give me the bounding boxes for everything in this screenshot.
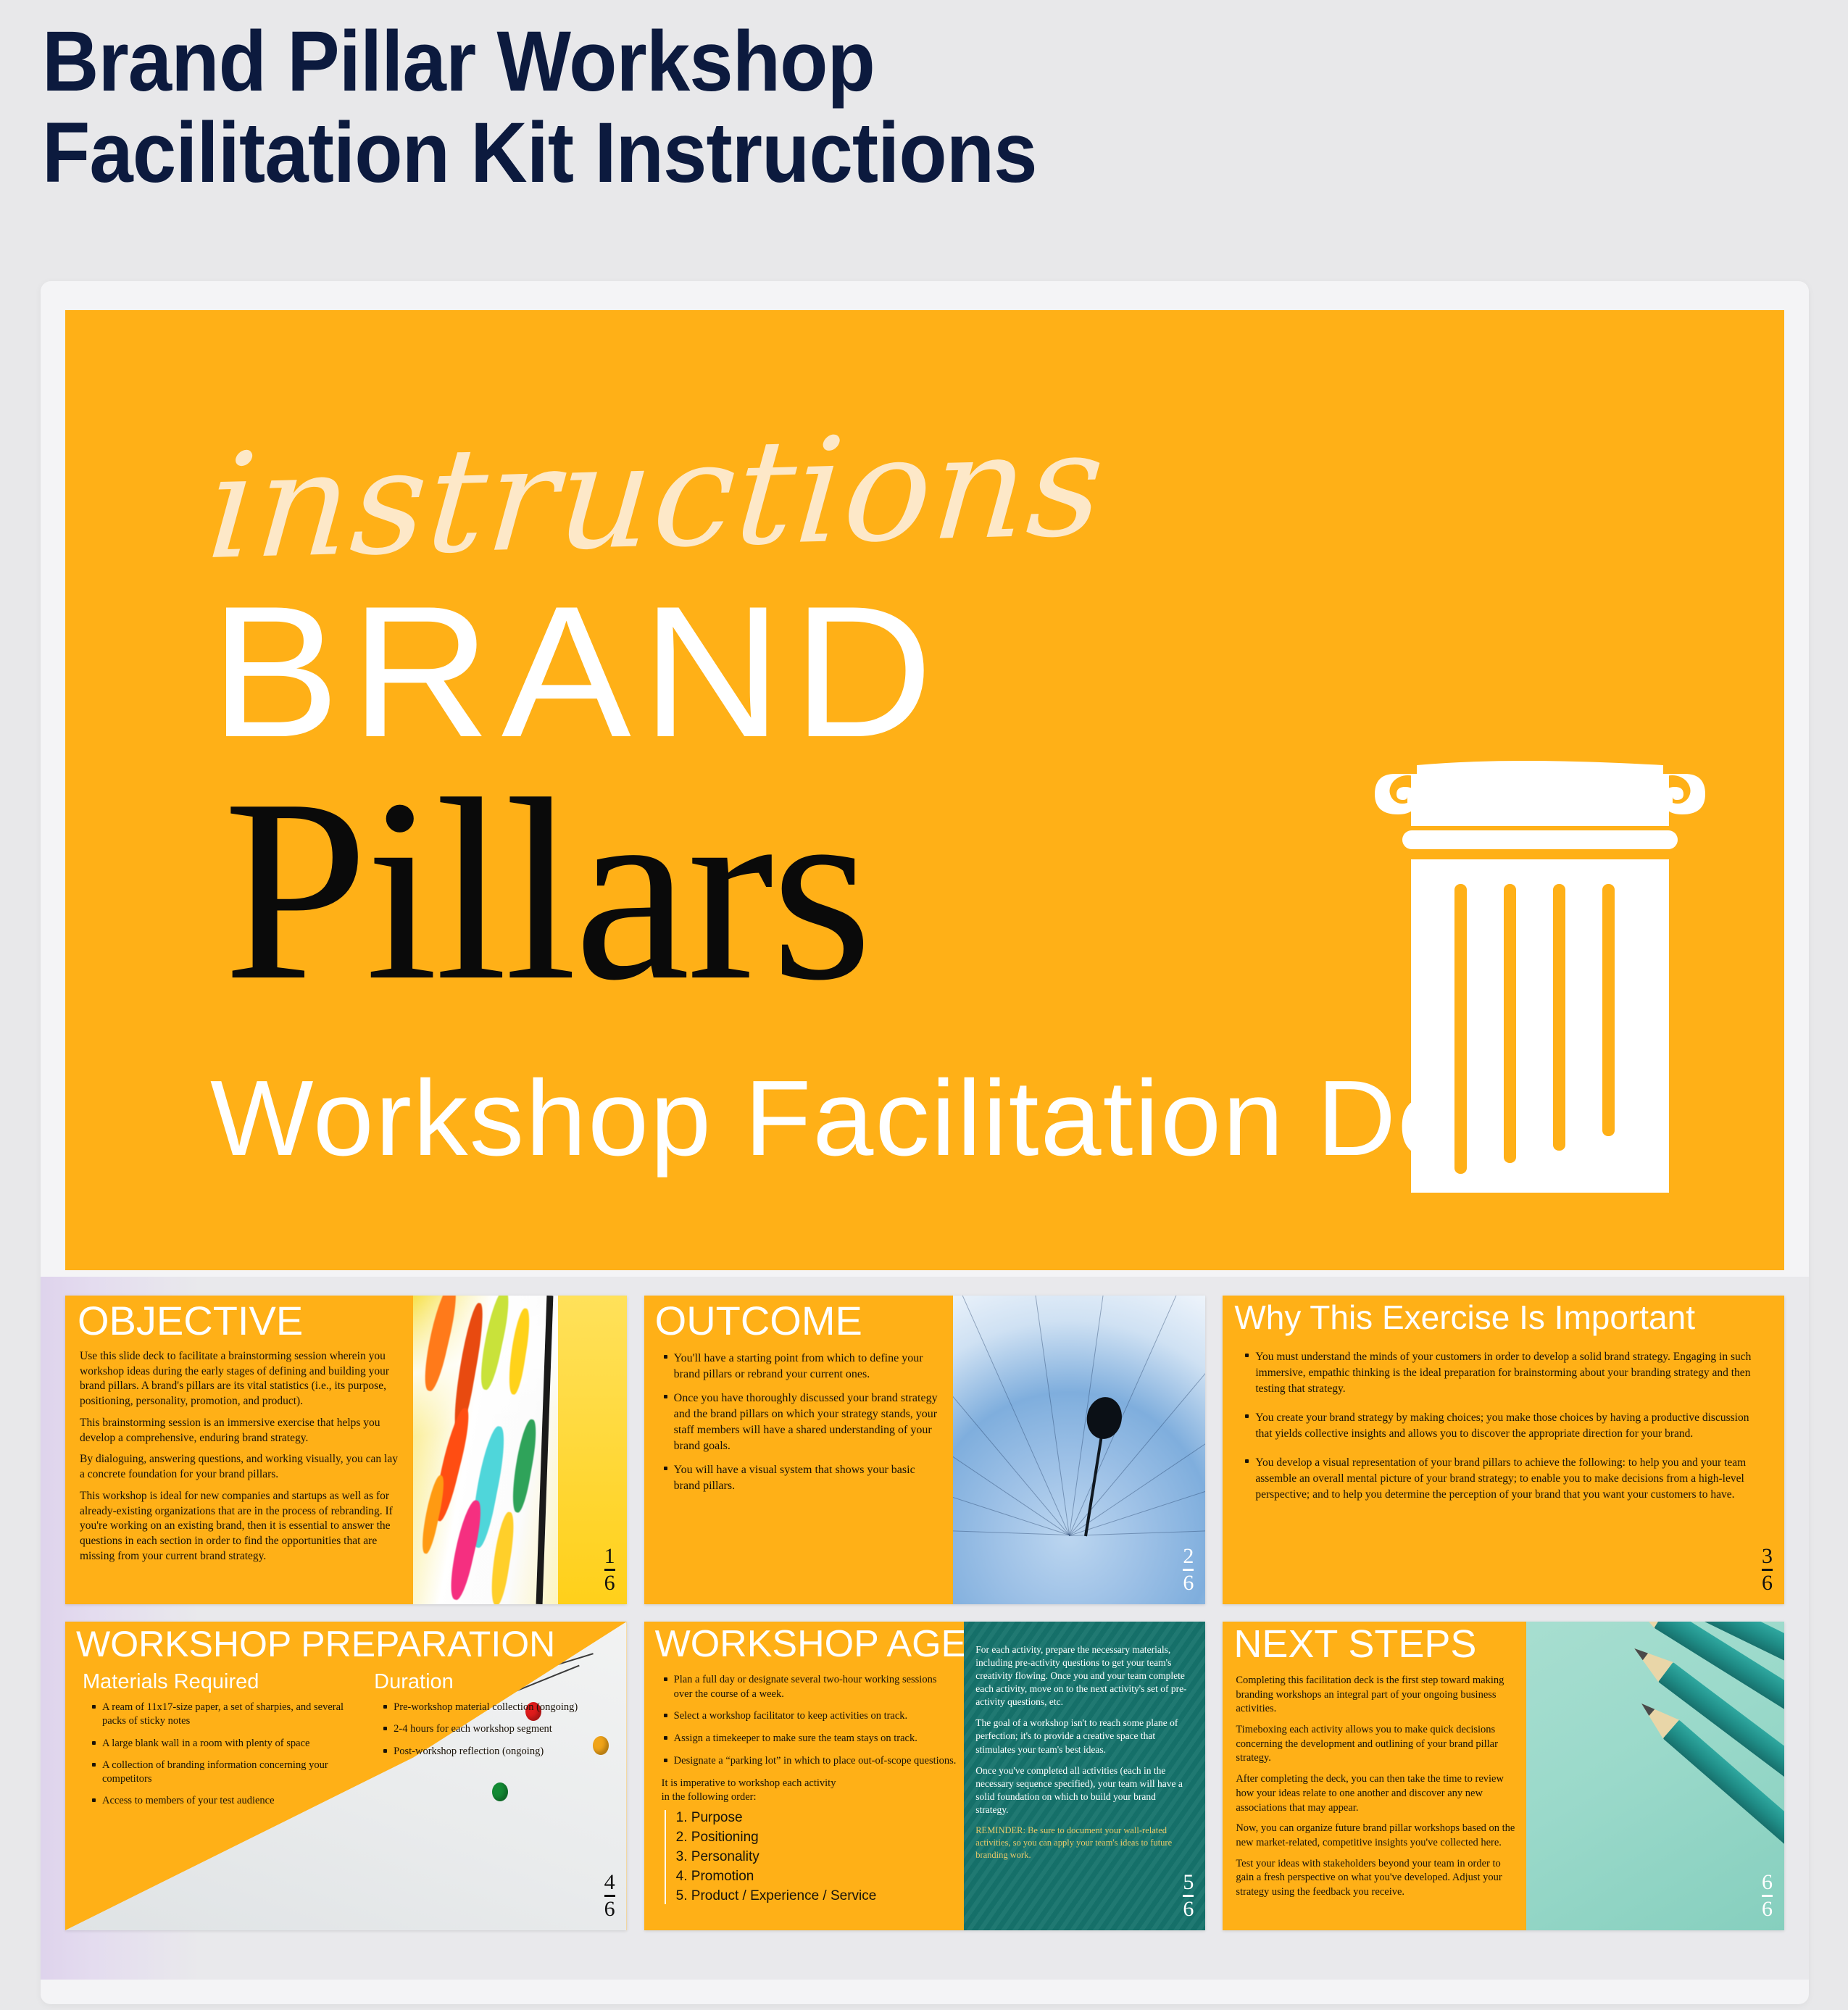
page-title: Brand Pillar Workshop Facilitation Kit I… — [42, 16, 1309, 199]
slide-page-number: 5 6 — [1183, 1871, 1194, 1920]
hero-script-label: instructions — [202, 400, 1111, 592]
side-paragraph: The goal of a workshop isn't to reach so… — [975, 1717, 1191, 1756]
slide-title: OUTCOME — [655, 1301, 944, 1340]
hero-pillars-word: Pillars — [223, 759, 870, 1020]
reminder-note: REMINDER: Be sure to document your wall-… — [975, 1825, 1191, 1861]
hero-brand-word: BRAND — [210, 578, 944, 765]
side-paragraph: Once you've completed all activities (ea… — [975, 1764, 1191, 1817]
slide-bullet: Post-workshop reflection (ongoing) — [381, 1745, 596, 1759]
slide-bullet: You develop a visual representation of y… — [1243, 1455, 1768, 1503]
slide-thumbnail-next-steps[interactable]: NEXT STEPS Completing this facilitation … — [1223, 1622, 1784, 1930]
column-heading: Duration — [370, 1670, 596, 1694]
slide-thumbnail-workshop-agenda[interactable]: WORKSHOP AGENDA Plan a full day or desig… — [644, 1622, 1206, 1930]
slide-page-number: 1 6 — [604, 1545, 615, 1594]
deck-card: instructions BRAND Pillars Workshop Faci… — [41, 281, 1809, 2004]
slide-bullet: You must understand the minds of your cu… — [1243, 1349, 1768, 1397]
slide-paragraph: Timeboxing each activity allows you to m… — [1236, 1723, 1517, 1766]
slide-bullet: A large blank wall in a room with plenty… — [90, 1737, 358, 1751]
slide-thumbnail-objective[interactable]: OBJECTIVE Use this slide deck to facilit… — [65, 1296, 627, 1604]
slide-paragraph: After completing the deck, you can then … — [1236, 1772, 1517, 1815]
agenda-ordered-list: 1. Purpose 2. Positioning 3. Personality… — [665, 1810, 957, 1904]
list-item: 1. Purpose — [676, 1810, 957, 1826]
pin-and-web-lines-photo — [953, 1296, 1206, 1604]
slide-bullet: 2-4 hours for each workshop segment — [381, 1722, 596, 1736]
slide-bullet: Assign a timekeeper to make sure the tea… — [662, 1732, 957, 1746]
slide-bullet: Access to members of your test audience — [90, 1794, 358, 1808]
slide-bullet: You create your brand strategy by making… — [1243, 1410, 1768, 1442]
slide-title: OBJECTIVE — [78, 1301, 403, 1340]
column-heading: Materials Required — [78, 1670, 358, 1694]
slide-bullet: Plan a full day or designate several two… — [662, 1673, 957, 1701]
slide-paragraph: Now, you can organize future brand pilla… — [1236, 1822, 1517, 1850]
slide-bullet: Pre-workshop material collection (ongoin… — [381, 1701, 596, 1714]
side-paragraph: For each activity, prepare the necessary… — [975, 1643, 1191, 1709]
agenda-side-panel: For each activity, prepare the necessary… — [964, 1622, 1205, 1930]
instructions-page: Brand Pillar Workshop Facilitation Kit I… — [0, 0, 1848, 2010]
slide-bullet: Select a workshop facilitator to keep ac… — [662, 1709, 957, 1724]
slide-bullet: A collection of branding information con… — [90, 1759, 358, 1787]
slide-bullet: Once you have thoroughly discussed your … — [662, 1390, 944, 1454]
list-item: 3. Personality — [676, 1849, 957, 1865]
slide-paragraph: Test your ideas with stakeholders beyond… — [1236, 1857, 1517, 1900]
hero-slide[interactable]: instructions BRAND Pillars Workshop Faci… — [65, 310, 1784, 1270]
slide-paragraph: By dialoguing, answering questions, and … — [80, 1452, 403, 1483]
slide-paragraph: Use this slide deck to facilitate a brai… — [80, 1349, 403, 1409]
slide-page-number: 3 6 — [1762, 1545, 1773, 1594]
slide-title: Why This Exercise Is Important — [1234, 1301, 1768, 1333]
slide-thumbnail-outcome[interactable]: OUTCOME You'll have a starting point fro… — [644, 1296, 1206, 1604]
slide-paragraph: Completing this facilitation deck is the… — [1236, 1674, 1517, 1717]
slide-page-number: 4 6 — [604, 1871, 615, 1920]
slide-title: NEXT STEPS — [1233, 1626, 1517, 1664]
slide-paragraph: This workshop is ideal for new companies… — [80, 1489, 403, 1564]
slide-bullet: Designate a “parking lot” in which to pl… — [662, 1754, 957, 1769]
slide-paragraph: This brainstorming session is an immersi… — [80, 1416, 403, 1446]
slide-page-number: 2 6 — [1183, 1545, 1194, 1594]
slide-thumbnail-why-important[interactable]: Why This Exercise Is Important You must … — [1223, 1296, 1784, 1604]
order-intro: It is imperative to workshop each activi… — [662, 1777, 957, 1805]
ionic-column-icon — [1366, 752, 1714, 1201]
slide-title: WORKSHOP PREPARATION — [76, 1627, 617, 1661]
list-item: 4. Promotion — [676, 1869, 957, 1885]
abstract-paint-strokes-photo — [413, 1296, 626, 1604]
slide-page-number: 6 6 — [1762, 1871, 1773, 1920]
teal-pencils-photo — [1526, 1622, 1784, 1930]
slide-thumbnail-workshop-preparation[interactable]: WORKSHOP PREPARATION Materials Required … — [65, 1622, 627, 1930]
list-item: 2. Positioning — [676, 1830, 957, 1846]
list-item: 5. Product / Experience / Service — [676, 1888, 957, 1904]
slide-bullet: You will have a visual system that shows… — [662, 1462, 944, 1494]
slide-thumbnail-grid: OBJECTIVE Use this slide deck to facilit… — [65, 1296, 1784, 1930]
slide-bullet: A ream of 11x17-size paper, a set of sha… — [90, 1701, 358, 1729]
slide-bullet: You'll have a starting point from which … — [662, 1351, 944, 1383]
